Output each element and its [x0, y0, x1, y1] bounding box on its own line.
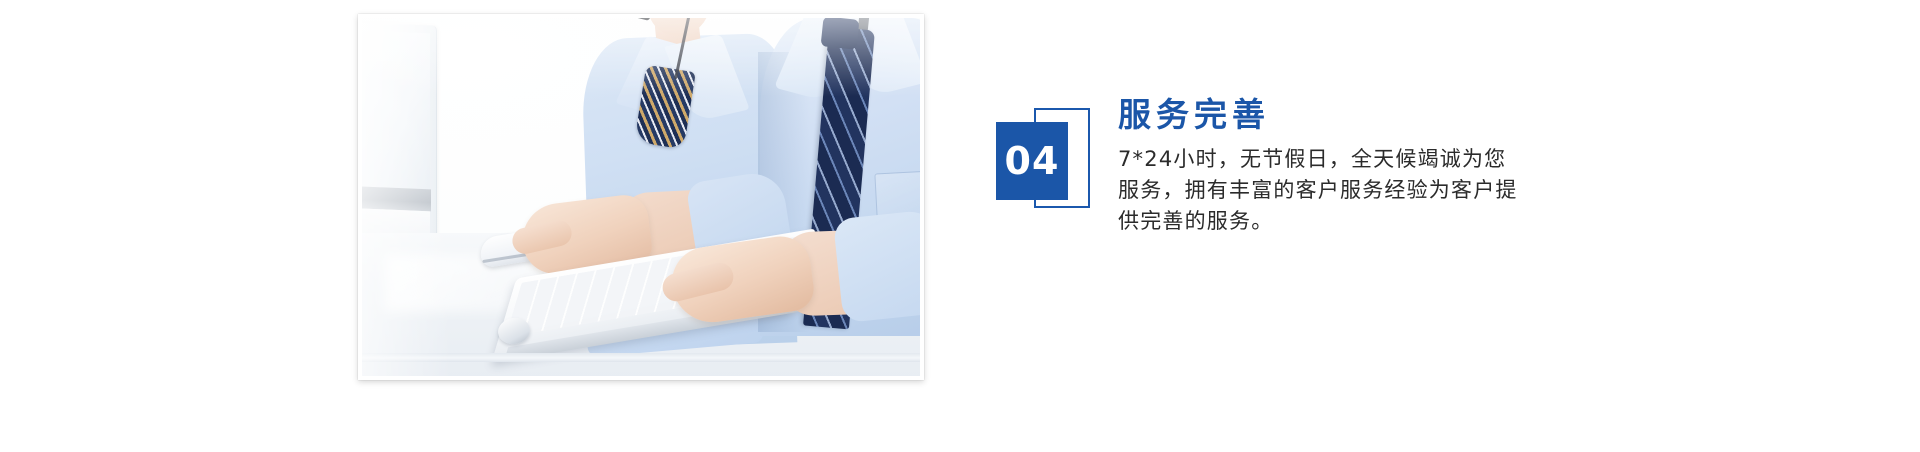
feature-description: 7*24小时，无节假日，全天候竭诚为您服务，拥有丰富的客户服务经验为客户提供完善…: [1118, 144, 1518, 236]
necktie-knot: [821, 18, 860, 50]
customer-service-photo: [362, 18, 920, 376]
step-badge-number: 04: [1005, 142, 1060, 180]
desk-front-edge: [362, 353, 920, 362]
feature-text-column: 服务完善 7*24小时，无节假日，全天候竭诚为您服务，拥有丰富的客户服务经验为客…: [1118, 96, 1548, 236]
photo-card: [358, 14, 924, 380]
feature-title: 服务完善: [1118, 96, 1548, 134]
monitor-band: [362, 186, 431, 211]
monitor-icon: [362, 22, 437, 255]
agent-b-cuff: [833, 209, 920, 323]
headset-microphone: [633, 18, 653, 21]
monitor-screen: [362, 30, 430, 189]
step-badge: 04: [996, 114, 1100, 218]
step-badge-fill: 04: [996, 122, 1068, 200]
service-feature-banner: 04 服务完善 7*24小时，无节假日，全天候竭诚为您服务，拥有丰富的客户服务经…: [0, 0, 1920, 452]
